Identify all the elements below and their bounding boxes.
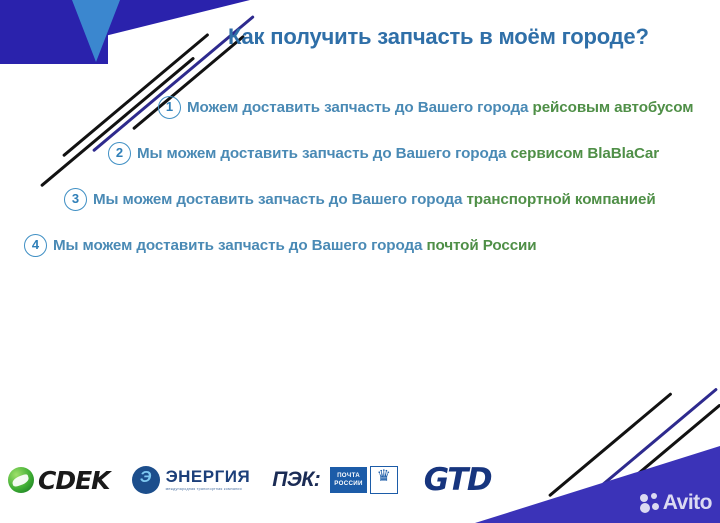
delivery-options-list: 1 Можем доставить запчасть до Вашего гор…	[0, 84, 720, 268]
page-title: Как получить запчасть в моём городе?	[228, 24, 649, 50]
promo-poster: Как получить запчасть в моём городе? 1 М…	[0, 0, 720, 523]
list-item-text: Можем доставить запчасть до Вашего город…	[187, 99, 693, 116]
list-item-number: 2	[108, 142, 131, 165]
logo-energia-words: ЭНЕРГИЯ международная транспортная компа…	[166, 468, 251, 492]
double-headed-eagle-icon: ♛	[370, 466, 398, 494]
list-item-text: Мы можем доставить запчасть до Вашего го…	[93, 191, 656, 208]
avito-dots-icon	[640, 493, 660, 513]
list-item-base-text: Мы можем доставить запчасть до Вашего го…	[137, 145, 510, 162]
list-item-highlight: почтой России	[426, 237, 536, 254]
list-item: 2 Мы можем доставить запчасть до Вашего …	[0, 130, 720, 176]
list-item-text: Мы можем доставить запчасть до Вашего го…	[53, 237, 537, 254]
logo-gtd: GTD	[424, 462, 491, 498]
logo-energia-label: ЭНЕРГИЯ	[166, 468, 251, 485]
list-item-number: 3	[64, 188, 87, 211]
list-item: 4 Мы можем доставить запчасть до Вашего …	[0, 222, 720, 268]
decor-top-light-triangle	[72, 0, 120, 62]
list-item-base-text: Мы можем доставить запчасть до Вашего го…	[93, 191, 466, 208]
logo-energia: ЭНЕРГИЯ международная транспортная компа…	[132, 466, 251, 494]
logo-pochta-rossii: ПОЧТА РОССИИ ♛	[330, 466, 398, 494]
list-item-text: Мы можем доставить запчасть до Вашего го…	[137, 145, 659, 162]
partner-logos: CDEK ЭНЕРГИЯ международная транспортная …	[8, 459, 491, 501]
logo-energia-subtitle: международная транспортная компания	[166, 488, 251, 492]
eagle-glyph: ♛	[371, 469, 397, 485]
list-item: 1 Можем доставить запчасть до Вашего гор…	[0, 84, 720, 130]
logo-pochta-line2: РОССИИ	[334, 480, 363, 487]
logo-pochta-line1: ПОЧТА	[337, 472, 360, 479]
list-item: 3 Мы можем доставить запчасть до Вашего …	[0, 176, 720, 222]
energia-circle-icon	[132, 466, 160, 494]
list-item-number: 4	[24, 234, 47, 257]
avito-watermark: Avito	[640, 491, 712, 515]
logo-cdek: CDEK	[8, 466, 110, 495]
list-item-base-text: Мы можем доставить запчасть до Вашего го…	[53, 237, 426, 254]
list-item-number: 1	[158, 96, 181, 119]
avito-watermark-label: Avito	[663, 491, 712, 515]
list-item-base-text: Можем доставить запчасть до Вашего город…	[187, 99, 533, 116]
list-item-highlight: транспортной компанией	[466, 191, 655, 208]
list-item-highlight: сервисом BlaBlaCar	[510, 145, 659, 162]
logo-pek: ПЭК:	[272, 468, 320, 492]
logo-cdek-label: CDEK	[38, 466, 110, 495]
logo-pochta-text-block: ПОЧТА РОССИИ	[330, 467, 367, 493]
list-item-highlight: рейсовым автобусом	[533, 99, 694, 116]
cdek-leaf-ball-icon	[8, 467, 34, 493]
